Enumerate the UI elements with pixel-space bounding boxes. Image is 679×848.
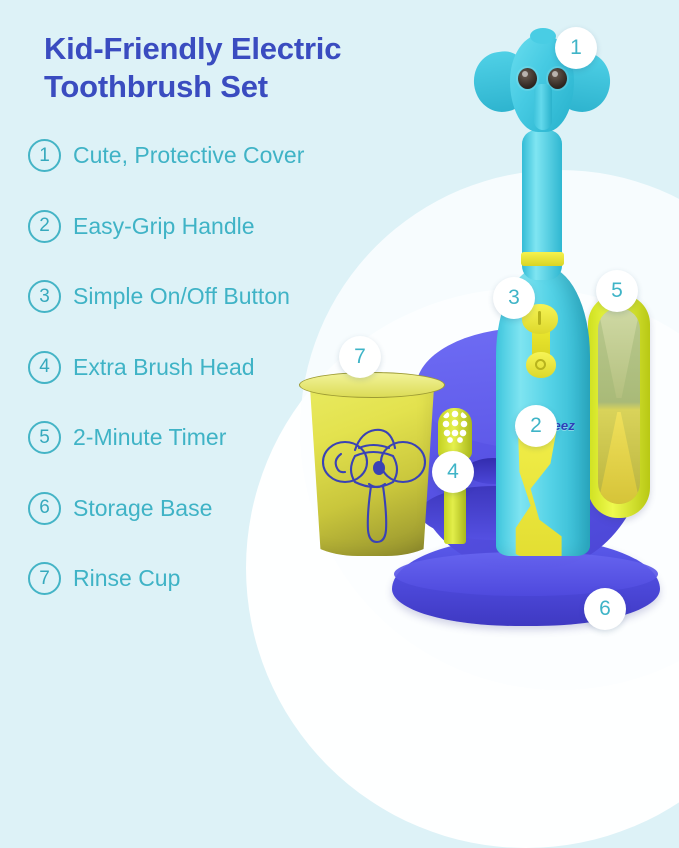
feature-number-badge-2: 2 <box>28 210 61 243</box>
timer-sand-top <box>598 308 640 398</box>
callout-badge-1[interactable]: 1 <box>555 27 597 69</box>
callout-badge-4[interactable]: 4 <box>432 451 474 493</box>
rinse-cup-rim <box>299 372 445 398</box>
feature-number-badge-7: 7 <box>28 562 61 595</box>
elephant-eye-right <box>548 68 567 89</box>
feature-label-4: Extra Brush Head <box>73 354 255 381</box>
toothbrush-yellow-band <box>521 252 564 266</box>
timer-glass <box>598 308 640 504</box>
feature-number-badge-3: 3 <box>28 280 61 313</box>
elephant-trunk <box>534 84 552 130</box>
feature-label-7: Rinse Cup <box>73 565 180 592</box>
brush-head-bristles <box>441 410 469 444</box>
callout-badge-2[interactable]: 2 <box>515 405 557 447</box>
feature-number-badge-5: 5 <box>28 421 61 454</box>
mode-button[interactable] <box>526 352 556 378</box>
feature-label-6: Storage Base <box>73 495 212 522</box>
cup-elephant-graphic <box>319 420 427 548</box>
feature-label-2: Easy-Grip Handle <box>73 213 255 240</box>
rinse-cup <box>297 372 447 562</box>
callout-badge-5[interactable]: 5 <box>596 270 638 312</box>
callout-badge-7[interactable]: 7 <box>339 336 381 378</box>
feature-number-badge-6: 6 <box>28 492 61 525</box>
callout-badge-3[interactable]: 3 <box>493 277 535 319</box>
feature-number-badge-4: 4 <box>28 351 61 384</box>
product-image: Brusheez <box>250 10 679 679</box>
elephant-head-tuft <box>530 28 556 44</box>
feature-label-5: 2-Minute Timer <box>73 424 226 451</box>
elephant-eye-left <box>518 68 537 89</box>
feature-number-badge-1: 1 <box>28 139 61 172</box>
timer-sand-bottom <box>598 412 640 504</box>
product-infographic: Kid-Friendly Electric Toothbrush Set 1 C… <box>0 0 679 679</box>
callout-badge-6[interactable]: 6 <box>584 588 626 630</box>
